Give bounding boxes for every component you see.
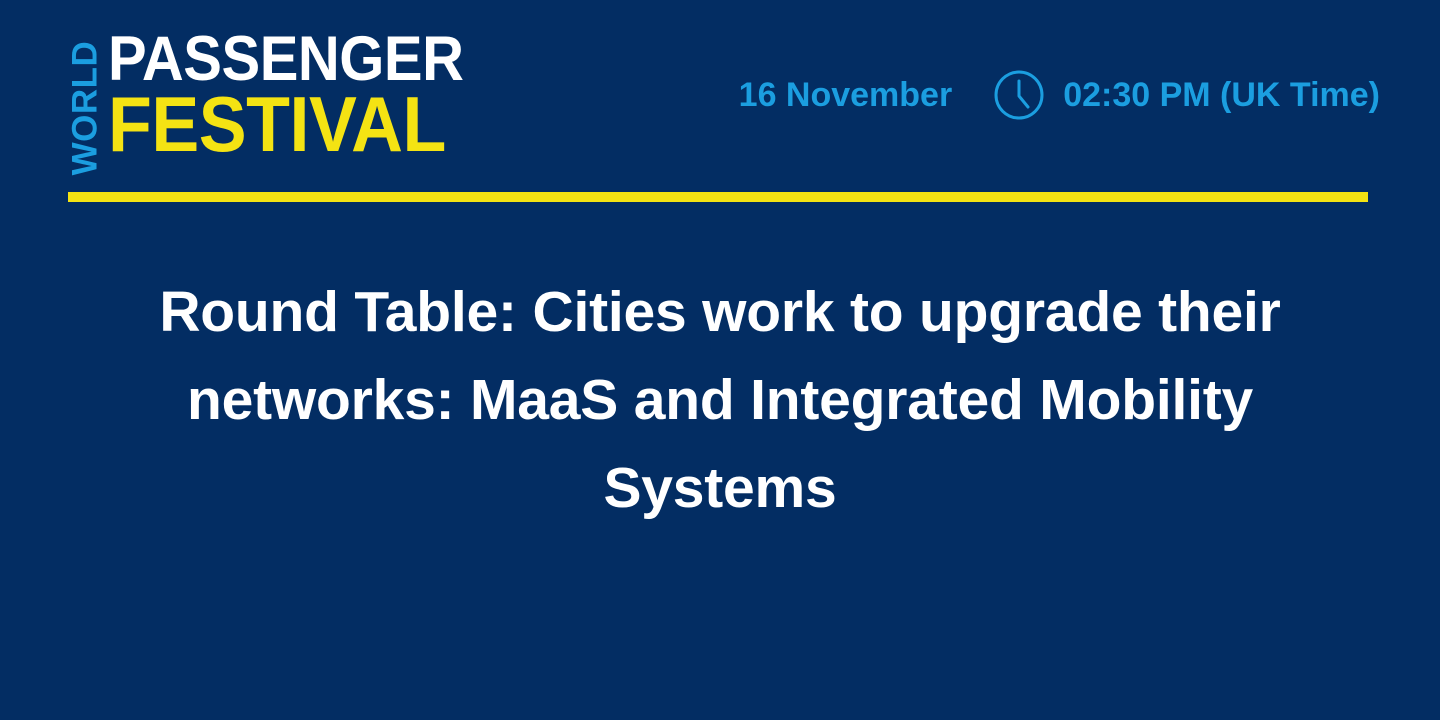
yellow-divider: [68, 192, 1368, 202]
logo-world-wrap: WORLD: [64, 34, 106, 182]
logo-wordmark: PASSENGER FESTIVAL: [108, 34, 494, 157]
session-title: Round Table: Cities work to upgrade thei…: [86, 268, 1354, 532]
clock-icon: [992, 68, 1046, 122]
logo-word-passenger: PASSENGER: [108, 34, 464, 86]
logo-word-world: WORLD: [68, 41, 103, 176]
event-date: 16 November: [739, 78, 953, 112]
banner-main: Round Table: Cities work to upgrade thei…: [0, 268, 1440, 532]
logo-word-festival: FESTIVAL: [108, 93, 464, 157]
banner-header: WORLD PASSENGER FESTIVAL 16 November 02:…: [0, 0, 1440, 212]
world-passenger-festival-logo: WORLD PASSENGER FESTIVAL: [64, 34, 494, 182]
event-time: 02:30 PM (UK Time): [1063, 78, 1380, 112]
event-meta: 16 November 02:30 PM (UK Time): [739, 68, 1380, 122]
event-banner: WORLD PASSENGER FESTIVAL 16 November 02:…: [0, 0, 1440, 720]
event-time-group: 02:30 PM (UK Time): [992, 68, 1380, 122]
